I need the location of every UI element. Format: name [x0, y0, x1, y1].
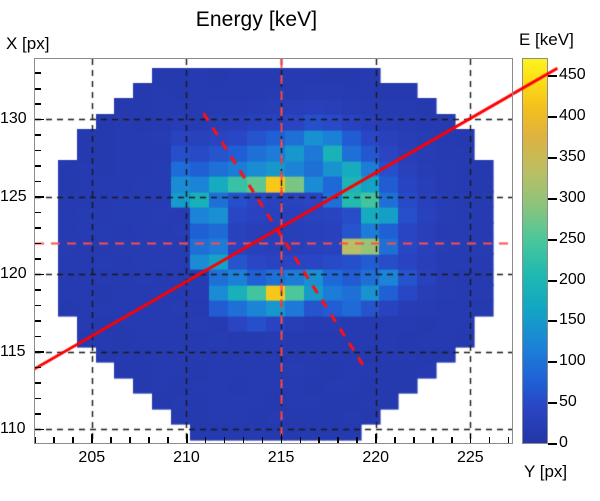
- colorbar-tick-label: 450: [559, 66, 586, 84]
- x-tick: [110, 437, 112, 443]
- y-tick-label: 130: [0, 110, 22, 128]
- y-axis-title: X [px]: [6, 34, 49, 54]
- y-tick-label: 120: [0, 265, 22, 283]
- y-tick: [35, 398, 41, 400]
- x-tick: [394, 437, 396, 443]
- x-tick-label: 210: [173, 449, 200, 467]
- colorbar-tick-label: 100: [559, 352, 586, 370]
- y-tick: [35, 258, 41, 260]
- x-tick: [318, 437, 320, 443]
- y-tick: [35, 134, 41, 136]
- colorbar-tick: [548, 239, 557, 241]
- colorbar-tick-label: 300: [559, 189, 586, 207]
- x-tick: [470, 434, 472, 443]
- y-tick: [35, 320, 41, 322]
- x-tick: [205, 437, 207, 443]
- colorbar-tick-label: 150: [559, 311, 586, 329]
- y-tick: [35, 274, 44, 276]
- y-tick-label: 125: [0, 188, 22, 206]
- colorbar-tick: [548, 157, 557, 159]
- x-tick: [451, 437, 453, 443]
- plot-area[interactable]: [34, 58, 513, 444]
- y-tick: [35, 243, 41, 245]
- x-tick: [281, 434, 283, 443]
- colorbar-tick: [548, 280, 557, 282]
- y-tick: [35, 165, 41, 167]
- x-tick-label: 225: [457, 449, 484, 467]
- x-tick: [337, 437, 339, 443]
- colorbar-tick-label: 400: [559, 107, 586, 125]
- colorbar-tick-label: 250: [559, 230, 586, 248]
- x-tick: [129, 437, 131, 443]
- y-tick: [35, 119, 44, 121]
- y-tick: [35, 227, 41, 229]
- y-tick: [35, 336, 41, 338]
- colorbar-tick-label: 0: [559, 434, 568, 452]
- x-tick: [72, 437, 74, 443]
- colorbar-tick: [548, 116, 557, 118]
- y-tick: [35, 181, 41, 183]
- x-tick: [300, 437, 302, 443]
- x-tick-label: 220: [362, 449, 389, 467]
- y-tick-label: 110: [0, 420, 22, 438]
- colorbar-tick: [548, 320, 557, 322]
- colorbar-tick: [548, 198, 557, 200]
- x-tick-label: 205: [78, 449, 105, 467]
- y-tick: [35, 150, 41, 152]
- y-tick: [35, 72, 41, 74]
- x-tick: [508, 437, 510, 443]
- y-tick: [35, 196, 44, 198]
- colorbar-tick: [548, 402, 557, 404]
- x-tick: [243, 437, 245, 443]
- y-tick: [35, 212, 41, 214]
- page-title: Energy [keV]: [0, 8, 513, 32]
- x-tick: [356, 437, 358, 443]
- x-tick-label: 215: [268, 449, 295, 467]
- y-tick: [35, 382, 41, 384]
- colorbar-tick: [548, 443, 557, 445]
- x-tick: [262, 437, 264, 443]
- x-tick: [91, 434, 93, 443]
- y-tick: [35, 367, 41, 369]
- colorbar-tick: [548, 75, 557, 77]
- x-tick: [432, 437, 434, 443]
- y-tick: [35, 289, 41, 291]
- overlay-lines-canvas: [35, 59, 512, 443]
- plot-root: Energy [keV] X [px] Y [px] E [keV] 11011…: [0, 0, 600, 501]
- y-tick: [35, 413, 41, 415]
- colorbar-tick: [548, 361, 557, 363]
- colorbar-ticks: 050100150200250300350400450: [522, 58, 600, 448]
- x-tick: [224, 437, 226, 443]
- y-tick: [35, 88, 41, 90]
- x-tick: [413, 437, 415, 443]
- y-tick-label: 115: [0, 343, 22, 361]
- x-tick: [375, 434, 377, 443]
- y-tick: [35, 103, 41, 105]
- y-tick: [35, 429, 44, 431]
- x-tick: [489, 437, 491, 443]
- y-tick: [35, 351, 44, 353]
- colorbar-tick-label: 50: [559, 393, 577, 411]
- y-tick: [35, 305, 41, 307]
- x-tick: [148, 437, 150, 443]
- colorbar-tick-label: 200: [559, 271, 586, 289]
- x-tick: [53, 437, 55, 443]
- x-tick: [35, 437, 37, 443]
- colorbar-tick-label: 350: [559, 148, 586, 166]
- x-tick: [167, 437, 169, 443]
- x-tick: [186, 434, 188, 443]
- colorbar-title: E [keV]: [519, 30, 574, 50]
- x-axis-title: Y [px]: [524, 462, 567, 482]
